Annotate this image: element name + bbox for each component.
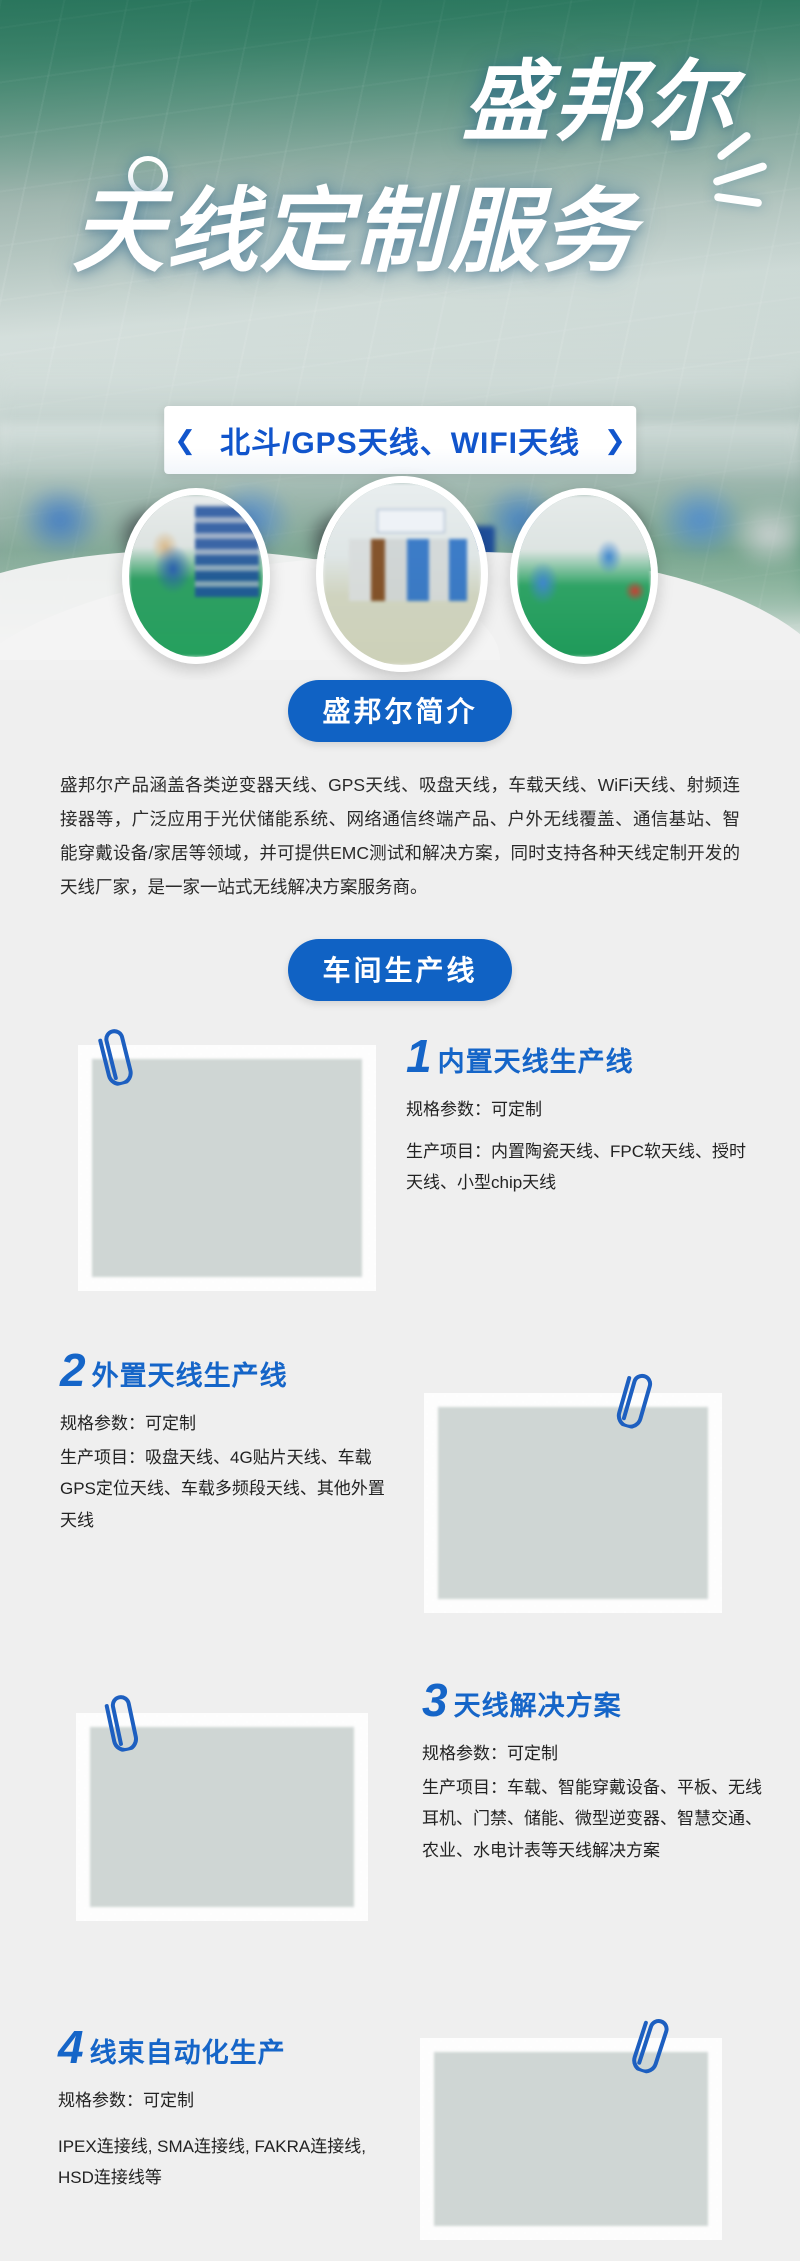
block-3-number: 3 — [422, 1679, 448, 1723]
intro-heading-wrap: 盛邦尔简介 — [0, 680, 800, 742]
block-1-title: 内置天线生产线 — [438, 1049, 634, 1078]
block-4-photo-frame — [420, 2038, 722, 2240]
block-1-text: 1 内置天线生产线 规格参数：可定制 生产项目：内置陶瓷天线、FPC软天线、授时… — [406, 1035, 756, 1199]
hero-title-line-2: 天线定制服务 — [72, 186, 636, 278]
block-4-spec: 规格参数：可定制 — [58, 2085, 388, 2116]
block-2-body: 规格参数：可定制 生产项目：吸盘天线、4G贴片天线、车载GPS定位天线、车载多频… — [60, 1408, 390, 1536]
hero-title-line-1: 盛邦尔 — [462, 58, 738, 146]
block-2-spec: 规格参数：可定制 — [60, 1408, 390, 1439]
block-4-items: IPEX连接线, SMA连接线, FAKRA连接线, HSD连接线等 — [58, 2131, 388, 2194]
block-2-head: 2 外置天线生产线 — [60, 1349, 390, 1393]
intro-paragraph: 盛邦尔产品涵盖各类逆变器天线、GPS天线、吸盘天线，车载天线、WiFi天线、射频… — [60, 768, 740, 905]
hero-banner: 外置天线生产 盛邦尔 天线定制服务 北斗/GPS天线、WIFI天线 — [0, 0, 800, 680]
chevron-left-icon — [174, 427, 196, 453]
block-4-title: 线束自动化生产 — [90, 2040, 286, 2069]
block-4-number: 4 — [58, 2026, 84, 2070]
block-1-items: 生产项目：内置陶瓷天线、FPC软天线、授时天线、小型chip天线 — [406, 1136, 756, 1199]
block-3-photo — [90, 1727, 354, 1907]
hero-subtitle-banner: 北斗/GPS天线、WIFI天线 — [170, 406, 630, 474]
workshop-block-3: 3 天线解决方案 规格参数：可定制 生产项目：车载、智能穿戴设备、平板、无线耳机… — [0, 1671, 800, 2016]
circle-photo-1 — [122, 488, 270, 664]
hero-circle-photos — [0, 482, 800, 672]
block-1-body: 规格参数：可定制 生产项目：内置陶瓷天线、FPC软天线、授时天线、小型chip天… — [406, 1094, 756, 1198]
block-2-items: 生产项目：吸盘天线、4G贴片天线、车载GPS定位天线、车载多频段天线、其他外置天… — [60, 1442, 390, 1536]
block-2-photo — [438, 1407, 708, 1599]
block-3-body: 规格参数：可定制 生产项目：车载、智能穿戴设备、平板、无线耳机、门禁、储能、微型… — [422, 1738, 762, 1866]
block-2-number: 2 — [60, 1349, 86, 1393]
block-4-body: 规格参数：可定制 IPEX连接线, SMA连接线, FAKRA连接线, HSD连… — [58, 2085, 388, 2193]
block-2-photo-frame — [424, 1393, 722, 1613]
block-3-items: 生产项目：车载、智能穿戴设备、平板、无线耳机、门禁、储能、微型逆变器、智慧交通、… — [422, 1772, 762, 1866]
intro-paragraph-wrap: 盛邦尔产品涵盖各类逆变器天线、GPS天线、吸盘天线，车载天线、WiFi天线、射频… — [60, 768, 740, 905]
block-1-spec: 规格参数：可定制 — [406, 1094, 756, 1125]
content-area: 盛邦尔简介 盛邦尔产品涵盖各类逆变器天线、GPS天线、吸盘天线，车载天线、WiF… — [0, 680, 800, 2261]
block-2-title: 外置天线生产线 — [92, 1363, 288, 1392]
block-4-text: 4 线束自动化生产 规格参数：可定制 IPEX连接线, SMA连接线, FAKR… — [58, 2026, 388, 2194]
workshop-heading-wrap: 车间生产线 — [0, 939, 800, 1001]
workshop-block-1: 1 内置天线生产线 规格参数：可定制 生产项目：内置陶瓷天线、FPC软天线、授时… — [0, 1001, 800, 1331]
hero-banner-text: 北斗/GPS天线、WIFI天线 — [210, 414, 590, 466]
block-4-photo — [434, 2052, 708, 2226]
chevron-right-icon — [604, 427, 626, 453]
block-1-number: 1 — [406, 1035, 432, 1079]
poster-page: 外置天线生产 盛邦尔 天线定制服务 北斗/GPS天线、WIFI天线 盛邦尔简介 — [0, 0, 800, 2261]
block-2-text: 2 外置天线生产线 规格参数：可定制 生产项目：吸盘天线、4G贴片天线、车载GP… — [60, 1349, 390, 1536]
intro-heading-pill: 盛邦尔简介 — [288, 680, 511, 742]
block-3-head: 3 天线解决方案 — [422, 1679, 762, 1723]
circle-photo-2 — [316, 476, 488, 672]
block-3-title: 天线解决方案 — [454, 1693, 622, 1722]
circle-photo-3 — [510, 488, 658, 664]
block-3-spec: 规格参数：可定制 — [422, 1738, 762, 1769]
block-3-text: 3 天线解决方案 规格参数：可定制 生产项目：车载、智能穿戴设备、平板、无线耳机… — [422, 1679, 762, 1866]
block-4-head: 4 线束自动化生产 — [58, 2026, 388, 2070]
block-1-photo — [92, 1059, 362, 1277]
workshop-heading-pill: 车间生产线 — [288, 939, 511, 1001]
workshop-block-2: 2 外置天线生产线 规格参数：可定制 生产项目：吸盘天线、4G贴片天线、车载GP… — [0, 1331, 800, 1671]
workshop-block-4: 4 线束自动化生产 规格参数：可定制 IPEX连接线, SMA连接线, FAKR… — [0, 2016, 800, 2261]
block-1-head: 1 内置天线生产线 — [406, 1035, 756, 1079]
